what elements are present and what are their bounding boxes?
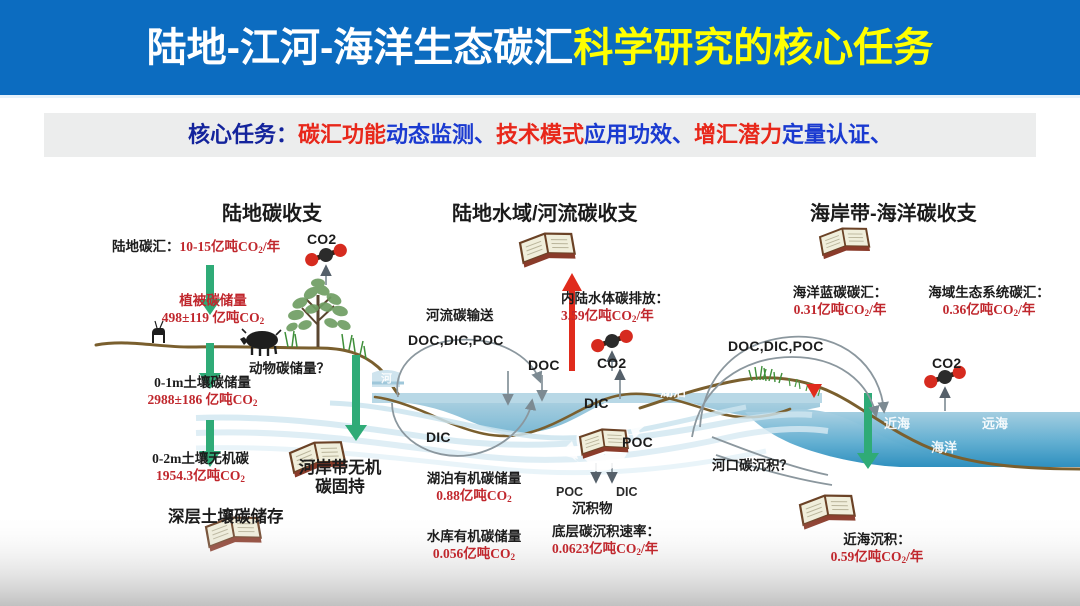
lake-stock-block: 湖泊有机碳储量 0.88亿吨CO2 [384,471,564,506]
banner-divider [0,95,1080,98]
core-task-text: 核心任务：碳汇功能动态监测、技术模式应用功效、增汇潜力定量认证、 [188,124,892,146]
estuary-burial-label: 河口碳沉积？ [712,458,793,474]
vegetation-stock-value-line: 498±119 亿吨CO2 [128,309,298,328]
soil-0-2m-value: 1954.3亿吨CO [156,468,240,483]
title-banner: 陆地-江河-海洋生态碳汇科学研究的核心任务 [0,0,1080,95]
dic-label-sediment: DIC [616,485,638,500]
blue-carbon-value-tail: /年 [869,302,886,317]
blue-carbon-value-line: 0.31亿吨CO2/年 [778,301,902,320]
blue-carbon-block: 海洋蓝碳碳汇： 0.31亿吨CO2/年 [778,285,902,320]
vegetation-stock-block: 植被碳储量 498±119 亿吨CO2 [128,293,298,328]
page-title-white: 陆地-江河-海洋生态碳汇 [147,26,574,70]
core-task-part-1: 核心任务： [188,122,298,147]
nearshore-burial-block: 近海沉积： 0.59亿吨CO2/年 [794,532,960,567]
carbon-cycle-diagram: 陆地碳收支 陆地水域/河流碳收支 海岸带-海洋碳收支 陆地碳汇：10-15亿吨C… [0,175,1080,606]
deep-soil-storage-label: 深层土壤碳储存 [168,507,284,526]
inland-emission-value-line: 3.59亿吨CO2/年 [561,307,669,326]
soil-0-1m-value-line: 2988±186 亿吨CO2 [110,391,295,410]
core-task-part-5: 应用功效、 [584,122,694,147]
lake-stock-value-sub: 2 [507,494,512,504]
core-task-part-6: 增汇潜力 [694,122,782,147]
soil-0-1m-block: 0-1m土壤碳储量 2988±186 亿吨CO2 [110,375,295,410]
dic-label-lake: DIC [584,395,609,412]
offshore-water-label: 远海 [982,416,1008,431]
co2-label-ocean: CO2 [932,355,961,372]
page-title-yellow: 科学研究的核心任务 [573,26,933,70]
poc-label-lake: POC [622,434,653,451]
soil-0-1m-value-sub: 2 [253,398,258,408]
river-species-label: DOC,DIC,POC [408,332,504,349]
riparian-label-line1: 河岸带无机 [280,458,400,477]
eco-sink-value-line: 0.36亿吨CO2/年 [910,301,1068,320]
coastal-grass [749,366,782,383]
dic-label-left: DIC [426,429,451,446]
soil-0-2m-block: 0-2m土壤无机碳 1954.3亿吨CO2 [108,451,293,486]
core-task-part-2: 碳汇功能 [298,122,386,147]
lake-stock-value: 0.88亿吨CO [436,488,507,503]
burial-rate-value-line: 0.0623亿吨CO2/年 [552,540,660,559]
core-task-part-3: 动态监测、 [386,122,496,147]
inland-emission-label: 内陆水体碳排放： [561,291,669,307]
land-sink-line: 陆地碳汇：10-15亿吨CO2/年 [112,238,280,257]
page-title: 陆地-江河-海洋生态碳汇科学研究的核心任务 [147,28,934,68]
nearshore-burial-value-tail: /年 [906,549,923,564]
burial-rate-block: 底层碳沉积速率： 0.0623亿吨CO2/年 [552,524,660,559]
riparian-block: 河岸带无机 碳固持 [280,458,400,497]
eco-sink-value: 0.36亿吨CO [943,302,1014,317]
eco-sink-value-tail: /年 [1018,302,1035,317]
land-sink-value-tail: /年 [263,239,280,254]
soil-0-1m-value: 2988±186 亿吨CO [148,392,253,407]
section-title-inland-water: 陆地水域/河流碳收支 [452,203,638,227]
title-banner-inner: 陆地-江河-海洋生态碳汇科学研究的核心任务 [0,0,1080,95]
reservoir-stock-value-sub: 2 [511,552,516,562]
inland-emission-value: 3.59亿吨CO [561,308,632,323]
soil-0-2m-value-sub: 2 [240,474,245,484]
nearshore-burial-value: 0.59亿吨CO [831,549,902,564]
nearshore-burial-label: 近海沉积： [794,532,960,548]
riparian-label-line2: 碳固持 [280,477,400,496]
sediment-label: 沉积物 [572,501,613,517]
blue-carbon-value: 0.31亿吨CO [794,302,865,317]
inland-emission-value-tail: /年 [636,308,653,323]
land-sink-label: 陆地碳汇： [112,239,180,254]
core-task-strip: 核心任务：碳汇功能动态监测、技术模式应用功效、增汇潜力定量认证、 [44,113,1036,157]
core-task-part-7: 定量认证、 [782,122,892,147]
land-sink-value: 10-15亿吨CO [180,239,259,254]
section-title-coast-ocean: 海岸带-海洋碳收支 [810,203,977,227]
soil-0-1m-label: 0-1m土壤碳储量 [110,375,295,391]
reservoir-stock-value: 0.056亿吨CO [433,546,511,561]
river-inlet-label: 河 [381,373,392,386]
co2-label-land: CO2 [307,231,336,248]
ocean-species-label: DOC,DIC,POC [728,338,824,355]
burial-rate-value-tail: /年 [641,541,658,556]
nearshore-water-label: 近海 [884,416,910,431]
reservoir-stock-block: 水库有机碳储量 0.056亿吨CO2 [384,529,564,564]
reservoir-stock-label: 水库有机碳储量 [384,529,564,545]
doc-label-inland: DOC [528,357,560,374]
river-transport-label: 河流碳输送 [426,308,494,324]
vegetation-stock-value-sub: 2 [260,316,265,326]
ocean-water-label: 海洋 [931,440,957,455]
burial-rate-label: 底层碳沉积速率： [552,524,660,540]
core-task-part-4: 技术模式 [496,122,584,147]
inland-emission-block: 内陆水体碳排放： 3.59亿吨CO2/年 [561,291,669,326]
eco-sink-block: 海域生态系统碳汇： 0.36亿吨CO2/年 [910,285,1068,320]
vegetation-stock-label: 植被碳储量 [128,293,298,309]
soil-0-2m-value-line: 1954.3亿吨CO2 [108,467,293,486]
co2-label-inland: CO2 [597,355,626,372]
blue-carbon-label: 海洋蓝碳碳汇： [778,285,902,301]
lake-stock-label: 湖泊有机碳储量 [384,471,564,487]
lake-water-label: 湖泊 [660,384,686,399]
lake-stock-value-line: 0.88亿吨CO2 [384,487,564,506]
section-title-land: 陆地碳收支 [222,203,322,227]
slide-root: 陆地-江河-海洋生态碳汇科学研究的核心任务 核心任务：碳汇功能动态监测、技术模式… [0,0,1080,606]
reservoir-stock-value-line: 0.056亿吨CO2 [384,545,564,564]
eco-sink-label: 海域生态系统碳汇： [910,285,1068,301]
nearshore-burial-value-line: 0.59亿吨CO2/年 [794,548,960,567]
soil-0-2m-label: 0-2m土壤无机碳 [108,451,293,467]
vegetation-stock-value: 498±119 亿吨CO [162,310,260,325]
burial-rate-value: 0.0623亿吨CO [552,541,636,556]
animal-stock-label: 动物碳储量？ [249,361,330,377]
